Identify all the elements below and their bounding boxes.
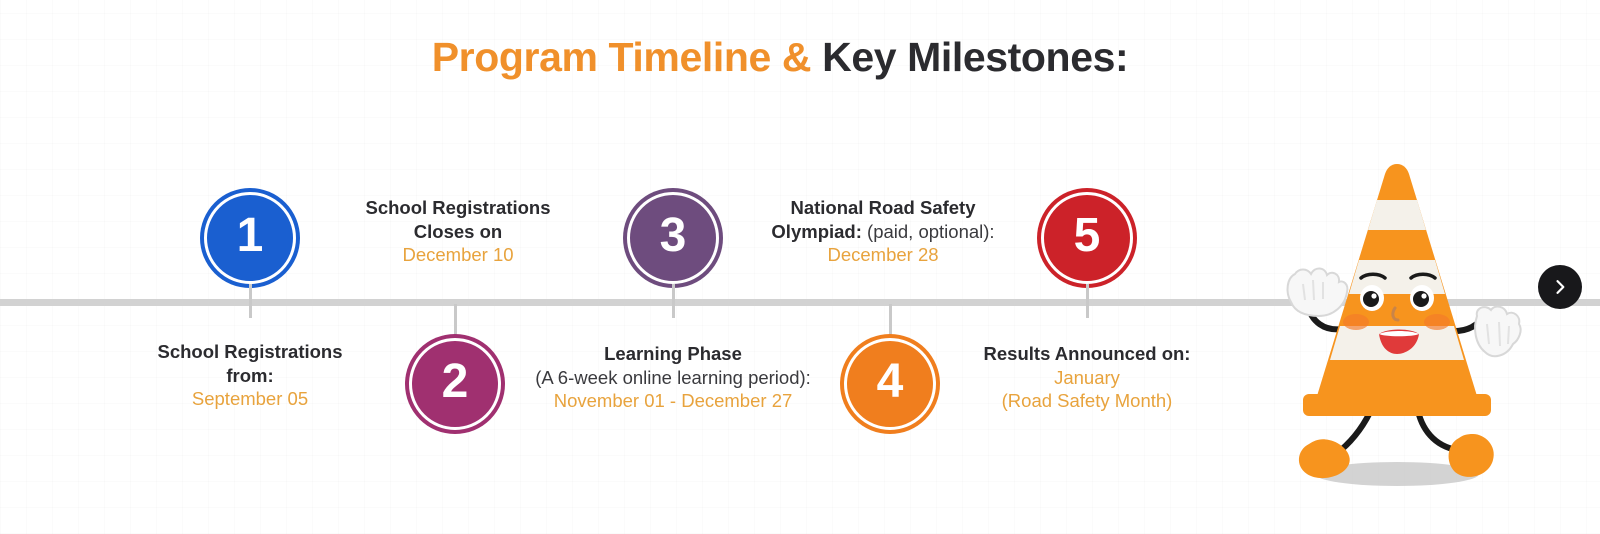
traffic-cone-icon	[1245, 138, 1545, 498]
milestone-badge-4[interactable]: 4	[840, 334, 940, 434]
milestone-date-5: January	[937, 366, 1237, 390]
milestone-stem-1	[249, 284, 252, 318]
milestone-heading-2: School Registrations	[308, 196, 608, 220]
chevron-right-icon	[1550, 277, 1570, 297]
milestone-badge-3[interactable]: 3	[623, 188, 723, 288]
milestone-number-1: 1	[237, 212, 264, 260]
milestone-node-3[interactable]: 3	[623, 188, 723, 318]
milestone-number-2: 2	[442, 358, 469, 406]
milestone-date-3: November 01 - December 27	[508, 389, 838, 413]
milestone-badge-5[interactable]: 5	[1037, 188, 1137, 288]
milestone-heading2-2: Closes on	[308, 220, 608, 244]
milestone-node-4[interactable]: 4	[840, 300, 940, 434]
milestone-stem-5	[1086, 284, 1089, 318]
milestone-date-1: September 05	[100, 387, 400, 411]
milestone-heading-1: School Registrations	[100, 340, 400, 364]
milestone-number-3: 3	[660, 212, 687, 260]
milestone-badge-2[interactable]: 2	[405, 334, 505, 434]
milestone-heading2-4: Olympiad:	[771, 221, 861, 242]
milestone-date-2: December 10	[308, 243, 608, 267]
milestone-heading-5: Results Announced on:	[937, 342, 1237, 366]
milestone-label-4: National Road Safety Olympiad: (paid, op…	[733, 196, 1033, 267]
milestone-node-2[interactable]: 2	[405, 300, 505, 434]
milestone-badge-1[interactable]: 1	[200, 188, 300, 288]
milestone-label-3: Learning Phase (A 6-week online learning…	[508, 342, 838, 413]
milestone-number-5: 5	[1074, 212, 1101, 260]
milestone-date2-5: (Road Safety Month)	[937, 389, 1237, 413]
milestone-label-2: School Registrations Closes on December …	[308, 196, 608, 267]
milestone-node-5[interactable]: 5	[1037, 188, 1137, 318]
milestone-stem-4	[889, 304, 892, 338]
milestone-heading-3: Learning Phase	[508, 342, 838, 366]
next-slide-button[interactable]	[1538, 265, 1582, 309]
milestone-stem-2	[454, 304, 457, 338]
milestone-label-5: Results Announced on: January (Road Safe…	[937, 342, 1237, 413]
milestone-note-4: (paid, optional):	[867, 221, 995, 242]
milestone-heading-4: National Road Safety	[733, 196, 1033, 220]
milestone-heading2-1: from:	[100, 364, 400, 388]
milestone-date-4: December 28	[733, 243, 1033, 267]
milestone-stem-3	[672, 284, 675, 318]
milestone-number-4: 4	[877, 358, 904, 406]
milestone-note-3: (A 6-week online learning period):	[535, 367, 811, 388]
traffic-cone-mascot	[1245, 138, 1545, 498]
milestone-label-1: School Registrations from: September 05	[100, 340, 400, 411]
milestone-node-1[interactable]: 1	[200, 188, 300, 318]
